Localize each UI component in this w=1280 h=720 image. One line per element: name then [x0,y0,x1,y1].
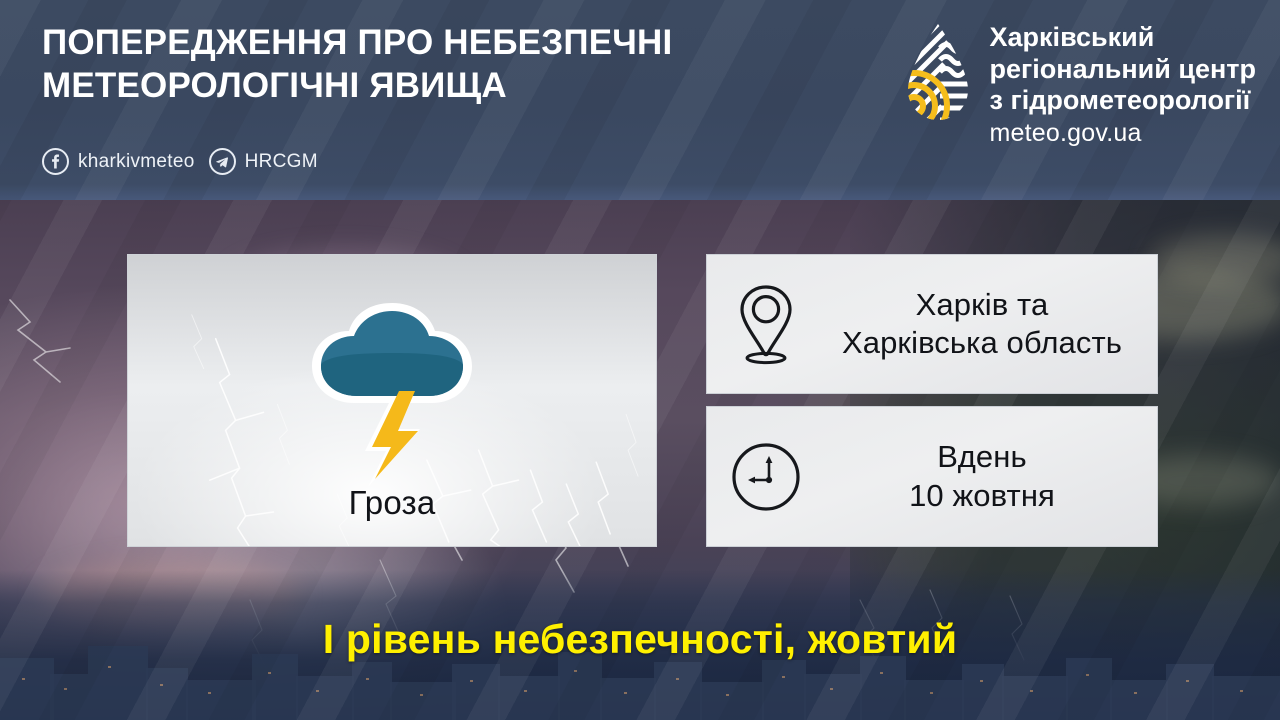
location-line2: Харківська область [825,324,1139,362]
location-line1: Харків та [825,286,1139,324]
header-band: ПОПЕРЕДЖЕННЯ ПРО НЕБЕЗПЕЧНІ МЕТЕОРОЛОГІЧ… [0,0,1280,200]
danger-level-text: І рівень небезпечності, жовтий [0,616,1280,663]
page-title: ПОПЕРЕДЖЕННЯ ПРО НЕБЕЗПЕЧНІ МЕТЕОРОЛОГІЧ… [42,22,802,107]
social-links: kharkivmeteo HRCGM [42,148,318,175]
social-label-telegram: HRCGM [245,151,318,173]
phenomenon-label: Гроза [128,484,656,522]
poster-canvas: ПОПЕРЕДЖЕННЯ ПРО НЕБЕЗПЕЧНІ МЕТЕОРОЛОГІЧ… [0,0,1280,720]
page-title-line1: ПОПЕРЕДЖЕННЯ ПРО НЕБЕЗПЕЧНІ [42,22,802,65]
social-label-facebook: kharkivmeteo [78,151,195,173]
telegram-icon [209,148,236,175]
brand-line2: регіональний центр [990,54,1256,86]
clock-icon [707,439,825,515]
time-text: Вдень 10 жовтня [825,438,1157,515]
thunderstorm-cloud-icon [302,291,482,491]
brand-website-url[interactable]: meteo.gov.ua [990,119,1256,148]
page-title-line2: МЕТЕОРОЛОГІЧНІ ЯВИЩА [42,65,802,108]
brand-block: Харківський регіональний центр з гідроме… [902,22,1256,148]
social-link-telegram[interactable]: HRCGM [209,148,318,175]
brand-line3: з гідрометеорології [990,85,1256,117]
time-line2: 10 жовтня [825,477,1139,515]
time-line1: Вдень [825,438,1139,476]
facebook-icon [42,148,69,175]
location-text: Харків та Харківська область [825,286,1157,363]
location-card: Харків та Харківська область [706,254,1158,394]
social-link-facebook[interactable]: kharkivmeteo [42,148,195,175]
water-droplet-logo [902,22,974,126]
time-card: Вдень 10 жовтня [706,406,1158,547]
brand-text: Харківський регіональний центр з гідроме… [990,22,1256,148]
brand-line1: Харківський [990,22,1256,54]
map-pin-icon [707,283,825,365]
phenomenon-card: Гроза [127,254,657,547]
